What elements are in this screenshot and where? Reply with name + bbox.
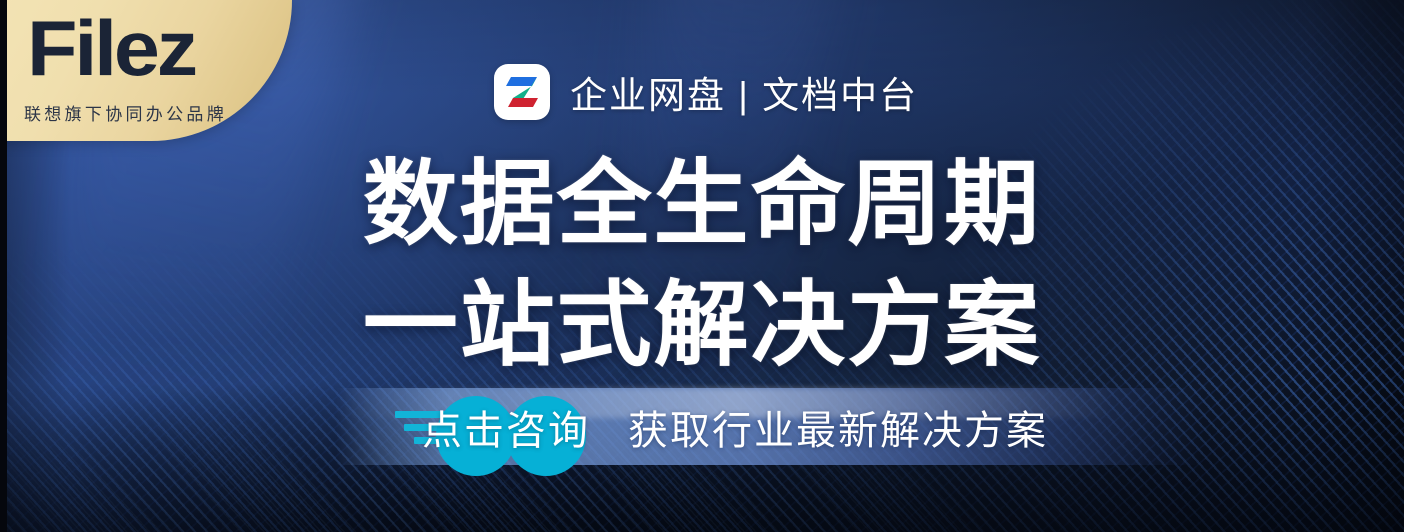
product-identity-row: 企业网盘 | 文档中台: [494, 64, 918, 120]
promo-banner: Filez 联想旗下协同办公品牌 企业网盘 | 文档中台 数据全生命周期 一站式…: [0, 0, 1404, 532]
headline-block: 数据全生命周期 一站式解决方案: [0, 144, 1404, 386]
headline-line-1: 数据全生命周期: [0, 144, 1404, 265]
cta-text-row: 点击咨询 获取行业最新解决方案: [336, 388, 1204, 465]
left-edge-border: [0, 0, 7, 532]
brand-tagline: 联想旗下协同办公品牌: [24, 100, 227, 125]
cta-secondary-label[interactable]: 获取行业最新解决方案: [628, 398, 1048, 456]
brand-wordmark: Filez: [27, 9, 195, 87]
product-name: 企业网盘 | 文档中台: [570, 65, 918, 119]
cta-consult-button[interactable]: 点击咨询: [422, 398, 590, 456]
headline-line-2: 一站式解决方案: [0, 265, 1404, 386]
filez-z-logo-icon: [494, 64, 550, 120]
